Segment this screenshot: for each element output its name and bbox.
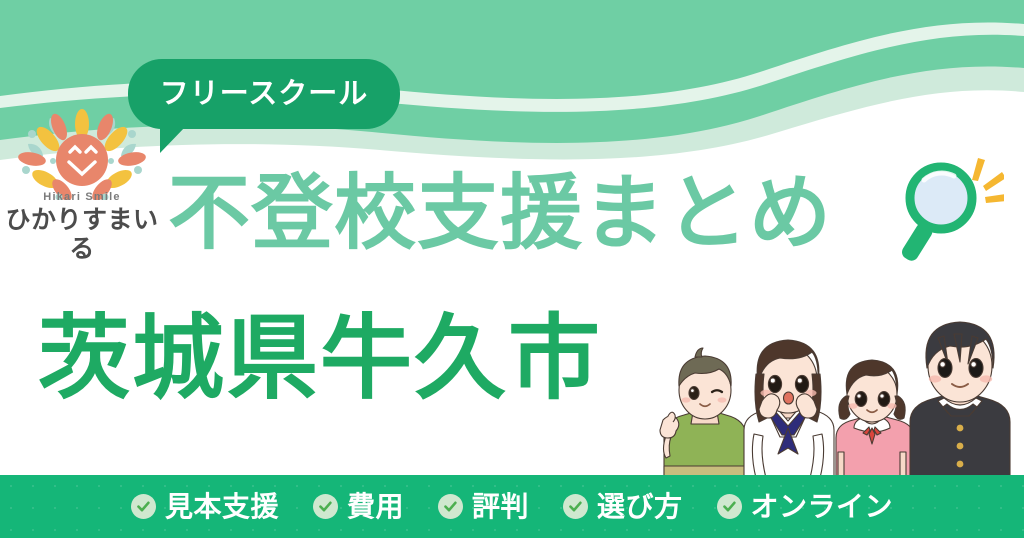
keyword-bar: 見本支援 費用 評判 選び方	[0, 475, 1024, 538]
students-illustration	[648, 286, 1024, 478]
check-mark-icon	[722, 499, 737, 514]
check-mark-icon	[568, 499, 583, 514]
logo-japanese-name: ひかりすまいる	[4, 206, 160, 264]
keyword-label: 費用	[347, 493, 404, 521]
magnifying-glass-icon	[884, 146, 1004, 276]
check-circle-icon	[563, 494, 588, 519]
character-boy-gakuran	[910, 322, 1010, 478]
sun-face	[56, 134, 108, 186]
site-logo[interactable]: Hikari Smile ひかりすまいる	[4, 104, 160, 240]
page-title-line1: 不登校支援まとめ	[168, 173, 832, 255]
keyword-item-4[interactable]: オンライン	[717, 493, 894, 521]
page-title-line2: 茨城県牛久市	[38, 313, 602, 405]
character-girl-pink-shirt	[836, 360, 914, 478]
category-tag[interactable]: フリースクール	[128, 59, 400, 129]
keyword-label: 選び方	[597, 493, 683, 521]
check-mark-icon	[136, 499, 151, 514]
tag-bubble-tail	[160, 126, 186, 153]
logo-english-name: Hikari Smile	[4, 192, 160, 203]
check-mark-icon	[443, 499, 458, 514]
check-circle-icon	[438, 494, 463, 519]
keyword-item-1[interactable]: 費用	[313, 493, 404, 521]
banner-root: フリースクール	[0, 0, 1024, 538]
check-mark-icon	[318, 499, 333, 514]
character-girl-sailor-uniform	[744, 340, 834, 478]
keyword-item-0[interactable]: 見本支援	[131, 493, 279, 521]
sun-smile-icon	[12, 104, 152, 200]
keyword-item-3[interactable]: 選び方	[563, 493, 683, 521]
character-boy-green-shirt	[660, 348, 746, 478]
check-circle-icon	[313, 494, 338, 519]
category-tag-label: フリースクール	[160, 80, 369, 109]
keyword-label: オンライン	[751, 493, 894, 521]
magnifier-lens	[910, 167, 972, 229]
check-circle-icon	[717, 494, 742, 519]
sparkle-lines	[972, 158, 1004, 203]
keyword-label: 見本支援	[165, 493, 279, 521]
keyword-label: 評判	[472, 493, 529, 521]
keyword-item-2[interactable]: 評判	[438, 493, 529, 521]
check-circle-icon	[131, 494, 156, 519]
